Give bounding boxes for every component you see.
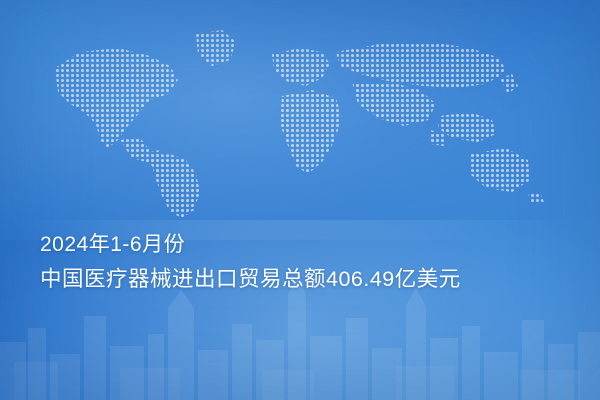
headline-line-1: 2024年1-6月份 <box>40 228 570 262</box>
headline-block: 2024年1-6月份 中国医疗器械进出口贸易总额406.49亿美元 <box>40 228 570 296</box>
poster-image: 2024年1-6月份 中国医疗器械进出口贸易总额406.49亿美元 <box>0 0 600 400</box>
headline-line-2: 中国医疗器械进出口贸易总额406.49亿美元 <box>40 262 570 296</box>
dotted-world-map <box>0 8 600 223</box>
